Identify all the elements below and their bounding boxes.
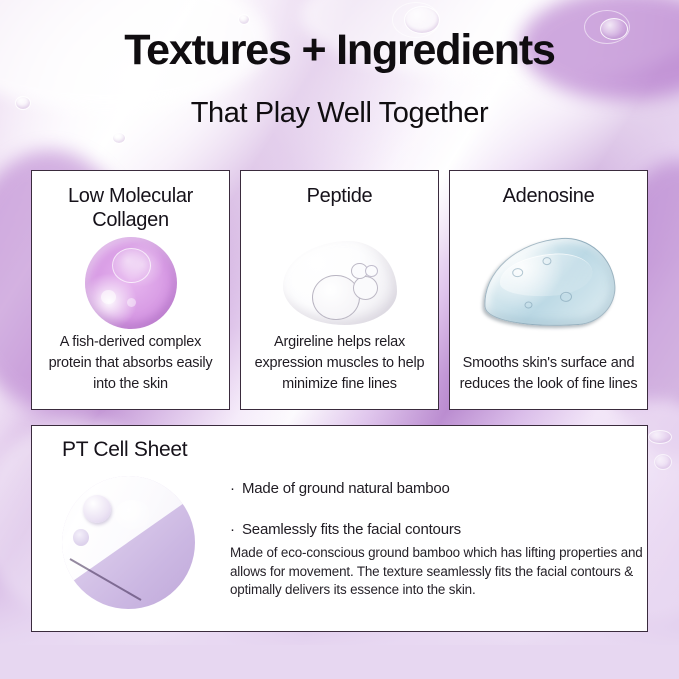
cell-sheet-title: PT Cell Sheet (62, 437, 187, 463)
ingredient-card-list: Low Molecular Collagen A fish-derived co… (31, 170, 648, 410)
sheet-mask-gloss (115, 500, 150, 529)
list-item-label: Seamlessly fits the facial contours (242, 521, 461, 538)
sheet-mask-photo (62, 476, 195, 609)
list-item: ·Seamlessly fits the facial contours (230, 519, 630, 540)
ingredient-art (450, 233, 647, 333)
ingredient-title: Peptide (249, 184, 430, 208)
blob-bubble (312, 275, 360, 321)
page-subtitle: That Play Well Together (0, 99, 679, 128)
white-gel-blob-icon (283, 241, 397, 325)
ingredient-art (32, 233, 229, 333)
ingredient-title: Low Molecular Collagen (40, 184, 221, 232)
ingredient-title: Adenosine (458, 184, 639, 208)
ingredient-card-adenosine: Adenosine Smooths skin's surface and red… (449, 170, 648, 410)
sheet-mask-droplet (73, 529, 89, 546)
ingredient-description: Argireline helps relax expression muscle… (250, 332, 429, 395)
ingredient-title-line-1: Low Molecular (68, 185, 193, 207)
ingredient-card-peptide: Peptide Argireline helps relax expressio… (240, 170, 439, 410)
sphere-highlight-dot (127, 298, 136, 307)
page-title: Textures + Ingredients (0, 29, 679, 72)
infographic-page: Textures + Ingredients That Play Well To… (0, 0, 679, 679)
sphere-highlight-dot (101, 290, 116, 304)
sheet-mask-droplet (83, 495, 111, 523)
sphere-inner-bubble (112, 248, 151, 283)
cell-sheet-panel: PT Cell Sheet ·Made of ground natural ba… (31, 425, 648, 632)
ingredient-description: Smooths skin's surface and reduces the l… (459, 353, 638, 395)
ingredient-art (241, 233, 438, 333)
teardrop-bubble (511, 268, 523, 278)
ingredient-description: A fish-derived complex protein that abso… (41, 332, 220, 395)
cell-sheet-paragraph: Made of eco-conscious ground bamboo whic… (230, 544, 650, 600)
bullet-dot-icon: · (230, 478, 242, 499)
blob-bubble (365, 265, 378, 278)
sheet-mask-edge (69, 559, 141, 602)
blue-gel-teardrop-icon (480, 235, 618, 332)
blob-bubble (353, 276, 378, 300)
ingredient-card-low-molecular-collagen: Low Molecular Collagen A fish-derived co… (31, 170, 230, 410)
ingredient-title-line-2: Collagen (92, 209, 169, 231)
teardrop-bubble (560, 292, 573, 303)
header: Textures + Ingredients That Play Well To… (0, 0, 679, 170)
list-item-label: Made of ground natural bamboo (242, 480, 450, 497)
list-item: ·Made of ground natural bamboo (230, 478, 630, 499)
bullet-dot-icon: · (230, 519, 242, 540)
teardrop-bubble (524, 301, 532, 309)
purple-sphere-icon (85, 237, 177, 329)
